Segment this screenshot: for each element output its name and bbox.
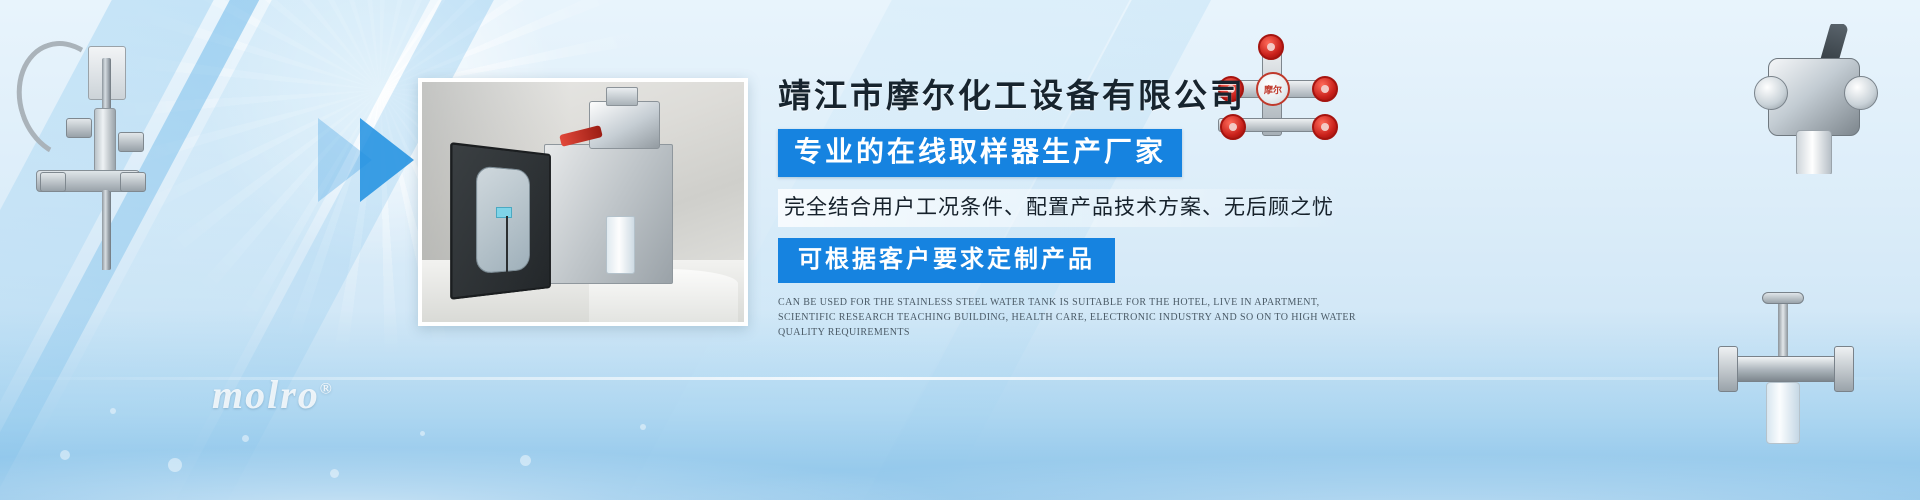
chevron-arrow-icon <box>360 118 417 202</box>
company-name-title: 靖江市摩尔化工设备有限公司 <box>778 76 1418 118</box>
right-bottom-valve-photo <box>1710 270 1860 460</box>
right-top-valve-photo <box>1752 24 1880 174</box>
english-caption: CAN BE USED FOR THE STAINLESS STEEL WATE… <box>778 295 1378 340</box>
promo-banner: 摩尔 靖江市摩尔化工设备有限公司 专业的在线取样器生产厂家 完全结合用户工况条件… <box>0 0 1920 500</box>
headline-badge: 专业的在线取样器生产厂家 <box>778 129 1182 177</box>
watermark-text: molro <box>212 372 320 417</box>
description-line: 完全结合用户工况条件、配置产品技术方案、无后顾之忧 <box>778 189 1344 227</box>
banner-text-block: 靖江市摩尔化工设备有限公司 专业的在线取样器生产厂家 完全结合用户工况条件、配置… <box>778 76 1418 340</box>
main-product-photo <box>418 78 748 326</box>
chevron-arrow-icon <box>318 118 375 202</box>
registered-mark-icon: ® <box>320 381 334 398</box>
brand-watermark: molro® <box>212 371 334 418</box>
customization-badge: 可根据客户要求定制产品 <box>778 238 1115 283</box>
left-equipment-photo <box>10 22 160 272</box>
